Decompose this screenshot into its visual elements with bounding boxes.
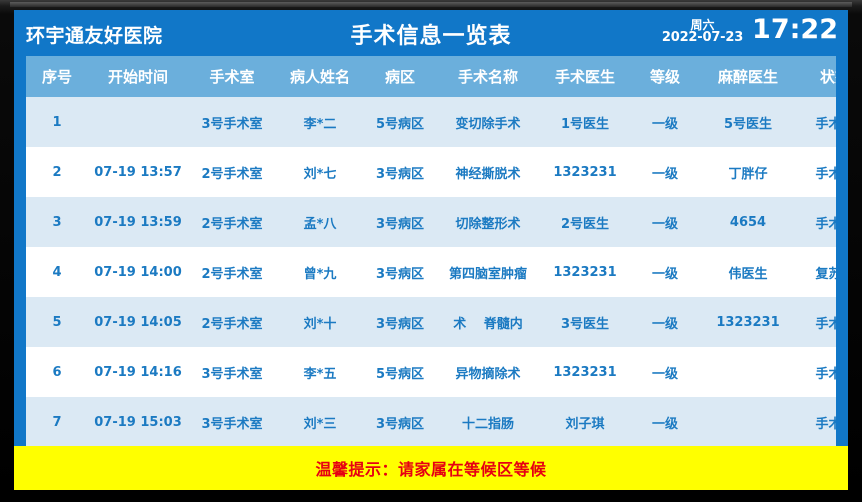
column-header-level: 等级 xyxy=(630,56,700,97)
cell-index: 1 xyxy=(26,97,88,147)
cell-ward: 3号病区 xyxy=(364,397,436,446)
cell-operating-room: 2号手术室 xyxy=(188,247,276,297)
cell-operating-room: 3号手术室 xyxy=(188,347,276,397)
cell-status: 复苏中 xyxy=(796,247,836,297)
cell-surgeon: 1323231 xyxy=(540,147,630,197)
cell-operating-room: 3号手术室 xyxy=(188,397,276,446)
table-row: 307-19 13:592号手术室孟*八3号病区切除整形术2号医生一级4654手… xyxy=(26,197,836,247)
cell-surgery-name: 异物摘除术 xyxy=(436,347,540,397)
cell-anesthetist: 1323231 xyxy=(700,297,796,347)
cell-surgery-name: 切除整形术 xyxy=(436,197,540,247)
cell-surgery-name: 十二指肠 xyxy=(436,397,540,446)
cell-start-time: 07-19 13:57 xyxy=(88,147,188,197)
cell-operating-room: 3号手术室 xyxy=(188,97,276,147)
cell-patient-name: 刘*三 xyxy=(276,397,364,446)
cell-surgeon: 1323231 xyxy=(540,347,630,397)
cell-patient-name: 刘*七 xyxy=(276,147,364,197)
cell-index: 7 xyxy=(26,397,88,446)
cell-anesthetist: 丁胖仔 xyxy=(700,147,796,197)
surgery-table-container: 序号 开始时间 手术室 病人姓名 病区 手术名称 手术医生 等级 麻醉医生 状态… xyxy=(26,56,836,446)
column-header-start-time: 开始时间 xyxy=(88,56,188,97)
cell-ward: 3号病区 xyxy=(364,147,436,197)
cell-ward: 5号病区 xyxy=(364,347,436,397)
cell-patient-name: 曾*九 xyxy=(276,247,364,297)
cell-start-time xyxy=(88,97,188,147)
cell-patient-name: 李*二 xyxy=(276,97,364,147)
cell-surgery-name: 第四脑室肿瘤 xyxy=(436,247,540,297)
cell-anesthetist: 4654 xyxy=(700,197,796,247)
cell-patient-name: 孟*八 xyxy=(276,197,364,247)
cell-surgery-name: 变切除手术 xyxy=(436,97,540,147)
column-header-surgeon: 手术医生 xyxy=(540,56,630,97)
cell-ward: 3号病区 xyxy=(364,247,436,297)
column-header-surgery: 手术名称 xyxy=(436,56,540,97)
cell-level: 一级 xyxy=(630,297,700,347)
cell-start-time: 07-19 15:03 xyxy=(88,397,188,446)
cell-surgeon: 刘子琪 xyxy=(540,397,630,446)
cell-surgery-name: 神经撕脱术 xyxy=(436,147,540,197)
cell-level: 一级 xyxy=(630,197,700,247)
date-label: 2022-07-23 xyxy=(662,31,743,45)
cell-start-time: 07-19 14:00 xyxy=(88,247,188,297)
cell-start-time: 07-19 14:16 xyxy=(88,347,188,397)
surgery-table: 序号 开始时间 手术室 病人姓名 病区 手术名称 手术医生 等级 麻醉医生 状态… xyxy=(26,56,836,446)
cell-patient-name: 刘*十 xyxy=(276,297,364,347)
cell-index: 3 xyxy=(26,197,88,247)
table-row: 507-19 14:052号手术室刘*十3号病区术 脊髓内3号医生一级13232… xyxy=(26,297,836,347)
table-row: 707-19 15:033号手术室刘*三3号病区十二指肠刘子琪一级手术中 xyxy=(26,397,836,446)
cell-level: 一级 xyxy=(630,247,700,297)
table-header-row: 序号 开始时间 手术室 病人姓名 病区 手术名称 手术医生 等级 麻醉医生 状态 xyxy=(26,56,836,97)
cell-ward: 3号病区 xyxy=(364,297,436,347)
cell-ward: 3号病区 xyxy=(364,197,436,247)
cell-operating-room: 2号手术室 xyxy=(188,297,276,347)
cell-level: 一级 xyxy=(630,347,700,397)
date-stack: 周六 2022-07-23 xyxy=(662,17,743,45)
notice-text: 温馨提示：请家属在等候区等候 xyxy=(315,456,546,480)
cell-level: 一级 xyxy=(630,397,700,446)
notice-banner: 温馨提示：请家属在等候区等候 xyxy=(14,446,848,490)
cell-level: 一级 xyxy=(630,97,700,147)
cell-surgeon: 3号医生 xyxy=(540,297,630,347)
column-header-ward: 病区 xyxy=(364,56,436,97)
cell-patient-name: 李*五 xyxy=(276,347,364,397)
cell-operating-room: 2号手术室 xyxy=(188,147,276,197)
table-row: 207-19 13:572号手术室刘*七3号病区神经撕脱术1323231一级丁胖… xyxy=(26,147,836,197)
cell-index: 2 xyxy=(26,147,88,197)
cell-surgeon: 2号医生 xyxy=(540,197,630,247)
column-header-patient: 病人姓名 xyxy=(276,56,364,97)
table-row: 13号手术室李*二5号病区变切除手术1号医生一级5号医生手术中 xyxy=(26,97,836,147)
cell-status: 手术中 xyxy=(796,97,836,147)
cell-anesthetist: 5号医生 xyxy=(700,97,796,147)
display-screen: 环宇通友好医院 手术信息一览表 周六 2022-07-23 17:22 xyxy=(14,10,848,490)
cell-ward: 5号病区 xyxy=(364,97,436,147)
title-bar: 环宇通友好医院 手术信息一览表 周六 2022-07-23 17:22 xyxy=(14,10,848,56)
cell-surgeon: 1323231 xyxy=(540,247,630,297)
table-row: 407-19 14:002号手术室曾*九3号病区第四脑室肿瘤1323231一级伟… xyxy=(26,247,836,297)
monitor-bezel: 环宇通友好医院 手术信息一览表 周六 2022-07-23 17:22 xyxy=(0,0,862,502)
surgery-table-body: 13号手术室李*二5号病区变切除手术1号医生一级5号医生手术中207-19 13… xyxy=(26,97,836,446)
cell-level: 一级 xyxy=(630,147,700,197)
column-header-room: 手术室 xyxy=(188,56,276,97)
cell-anesthetist: 伟医生 xyxy=(700,247,796,297)
column-header-anesthetist: 麻醉医生 xyxy=(700,56,796,97)
cell-status: 手术中 xyxy=(796,147,836,197)
cell-status: 手术中 xyxy=(796,197,836,247)
table-row: 607-19 14:163号手术室李*五5号病区异物摘除术1323231一级手术… xyxy=(26,347,836,397)
column-header-index: 序号 xyxy=(26,56,88,97)
cell-index: 6 xyxy=(26,347,88,397)
cell-status: 手术中 xyxy=(796,347,836,397)
column-header-status: 状态 xyxy=(796,56,836,97)
bezel-highlight xyxy=(10,2,852,7)
cell-index: 4 xyxy=(26,247,88,297)
cell-start-time: 07-19 13:59 xyxy=(88,197,188,247)
cell-surgeon: 1号医生 xyxy=(540,97,630,147)
clock-block: 周六 2022-07-23 17:22 xyxy=(662,14,838,48)
cell-status: 手术中 xyxy=(796,397,836,446)
cell-start-time: 07-19 14:05 xyxy=(88,297,188,347)
time-label: 17:22 xyxy=(752,14,838,48)
cell-surgery-name: 术 脊髓内 xyxy=(436,297,540,347)
cell-anesthetist xyxy=(700,347,796,397)
cell-anesthetist xyxy=(700,397,796,446)
cell-status: 手术中 xyxy=(796,297,836,347)
cell-operating-room: 2号手术室 xyxy=(188,197,276,247)
cell-index: 5 xyxy=(26,297,88,347)
